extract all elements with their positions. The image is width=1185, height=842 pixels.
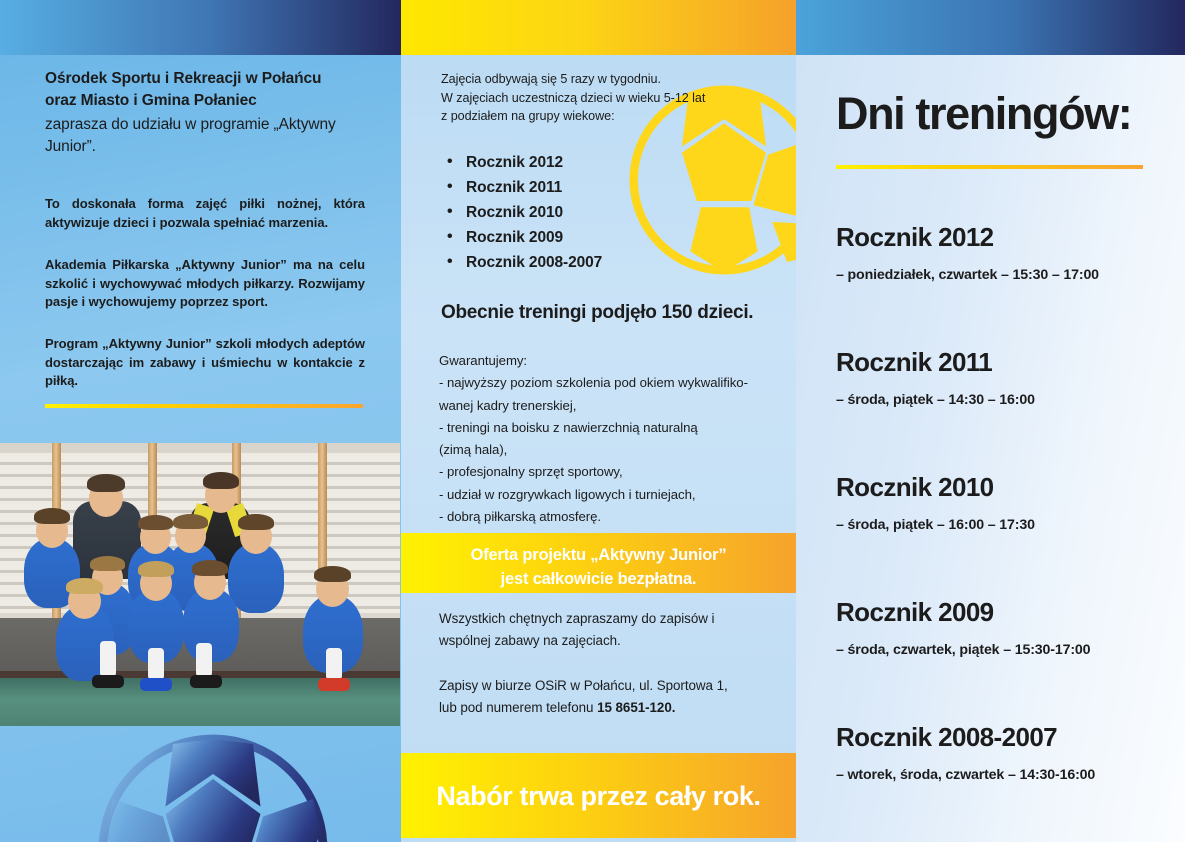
- schedule-days: – środa, piątek – 14:30 – 16:00: [836, 392, 1166, 408]
- list-item: Rocznik 2010: [443, 200, 743, 225]
- schedule-days: – środa, czwartek, piątek – 15:30-17:00: [836, 642, 1166, 658]
- free-offer-line2: jest całkowicie bezpłatna.: [401, 567, 796, 591]
- contact-address: Zapisy w biurze OSiR w Połańcu, ul. Spor…: [439, 675, 769, 697]
- middle-panel: Zajęcia odbywają się 5 razy w tygodniu. …: [401, 55, 796, 842]
- topbar-segment-left: [0, 0, 401, 55]
- gradient-divider-left: [45, 404, 363, 408]
- list-item: Rocznik 2008-2007: [443, 250, 743, 275]
- organisation-name-line1: Ośrodek Sportu i Rekreacji w Połańcu: [45, 68, 375, 90]
- recruitment-banner: Nabór trwa przez cały rok.: [401, 753, 796, 838]
- participants-count-heading: Obecnie treningi podjęło 150 dzieci.: [441, 302, 781, 324]
- schedule-year: Rocznik 2010: [836, 472, 1166, 503]
- age-group-list: Rocznik 2012 Rocznik 2011 Rocznik 2010 R…: [443, 150, 743, 275]
- topbar-segment-middle: [401, 0, 796, 55]
- training-days-title: Dni treningów:: [836, 88, 1131, 140]
- schedule-days: – poniedziałek, czwartek – 15:30 – 17:00: [836, 267, 1166, 283]
- middle-outro-text: Wszystkich chętnych zapraszamy do zapisó…: [439, 608, 759, 652]
- schedule-year: Rocznik 2012: [836, 222, 1166, 253]
- list-item: Rocznik 2011: [443, 175, 743, 200]
- schedule-year: Rocznik 2008-2007: [836, 722, 1166, 753]
- contact-phone-line: lub pod numerem telefonu 15 8651-120.: [439, 697, 769, 719]
- football-decor-blue-icon: [88, 724, 338, 842]
- gradient-divider-right: [836, 165, 1143, 169]
- schedule-entry-2009: Rocznik 2009 – środa, czwartek, piątek –…: [836, 597, 1166, 658]
- left-paragraph-2: Akademia Piłkarska „Aktywny Junior” ma n…: [45, 256, 365, 312]
- schedule-entry-2008-2007: Rocznik 2008-2007 – wtorek, środa, czwar…: [836, 722, 1166, 783]
- contact-block: Zapisy w biurze OSiR w Połańcu, ul. Spor…: [439, 675, 769, 719]
- left-panel: Ośrodek Sportu i Rekreacji w Połańcu ora…: [0, 55, 401, 842]
- contact-phone-prefix: lub pod numerem telefonu: [439, 700, 597, 715]
- list-item: Rocznik 2012: [443, 150, 743, 175]
- schedule-year: Rocznik 2011: [836, 347, 1166, 378]
- lead-block: Ośrodek Sportu i Rekreacji w Połańcu ora…: [45, 68, 375, 158]
- schedule-days: – wtorek, środa, czwartek – 14:30-16:00: [836, 767, 1166, 783]
- right-panel: Dni treningów: Rocznik 2012 – poniedział…: [796, 55, 1185, 842]
- schedule-entry-2010: Rocznik 2010 – środa, piątek – 16:00 – 1…: [836, 472, 1166, 533]
- free-offer-line1: Oferta projektu „Aktywny Junior”: [401, 543, 796, 567]
- schedule-entry-2011: Rocznik 2011 – środa, piątek – 14:30 – 1…: [836, 347, 1166, 408]
- middle-intro-text: Zajęcia odbywają się 5 razy w tygodniu. …: [441, 70, 711, 126]
- guarantee-list: Gwarantujemy: - najwyższy poziom szkolen…: [439, 350, 769, 528]
- left-paragraph-1: To doskonała forma zajęć piłki nożnej, k…: [45, 195, 365, 232]
- schedule-entry-2012: Rocznik 2012 – poniedziałek, czwartek – …: [836, 222, 1166, 283]
- list-item: Rocznik 2009: [443, 225, 743, 250]
- top-decorative-bar: [0, 0, 1185, 55]
- schedule-year: Rocznik 2009: [836, 597, 1166, 628]
- invitation-line: zaprasza do udziału w programie „Aktywny…: [45, 114, 375, 158]
- organisation-name-line2: oraz Miasto i Gmina Połaniec: [45, 90, 375, 112]
- schedule-days: – środa, piątek – 16:00 – 17:30: [836, 517, 1166, 533]
- team-photo: [0, 443, 400, 726]
- left-paragraph-3: Program „Aktywny Junior” szkoli młodych …: [45, 335, 365, 391]
- topbar-segment-right: [796, 0, 1185, 55]
- contact-phone-number: 15 8651-120.: [597, 700, 675, 715]
- brochure-page: Ośrodek Sportu i Rekreacji w Połańcu ora…: [0, 0, 1185, 842]
- free-offer-banner: Oferta projektu „Aktywny Junior” jest ca…: [401, 533, 796, 593]
